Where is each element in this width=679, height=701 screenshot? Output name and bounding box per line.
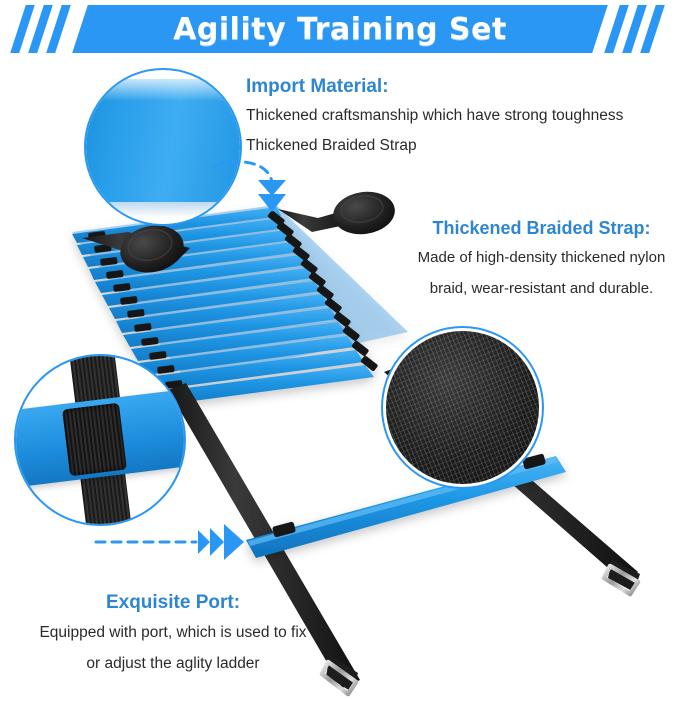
braided-strap-closeup-icon xyxy=(381,326,544,489)
arrow-right-icon xyxy=(92,518,252,564)
callout-line: Thickened craftsmanship which have stron… xyxy=(246,104,623,128)
callout-exquisite-port: Exquisite Port: Equipped with port, whic… xyxy=(8,592,338,676)
callout-import-material: Import Material: Thickened craftsmanship… xyxy=(246,76,623,158)
port-slot xyxy=(63,403,128,477)
infographic-page: Agility Training Set xyxy=(0,0,679,701)
callout-line: Equipped with port, which is used to fix xyxy=(8,621,338,645)
port-closeup-icon xyxy=(14,354,186,526)
callout-line: Thickened Braided Strap xyxy=(246,134,623,158)
callout-line: or adjust the aglity ladder xyxy=(8,652,338,676)
callout-line: Made of high-density thickened nylon xyxy=(404,246,679,270)
arrow-down-icon xyxy=(212,152,298,222)
callout-line: braid, wear-resistant and durable. xyxy=(404,277,679,301)
ladder-rung-lower xyxy=(246,453,566,558)
material-highlight xyxy=(86,79,240,101)
buckle-right[interactable] xyxy=(604,560,640,594)
callout-heading: Import Material: xyxy=(246,76,623,98)
callout-heading: Thickened Braided Strap: xyxy=(404,218,679,239)
callout-thickened-braided-strap: Thickened Braided Strap: Made of high-de… xyxy=(404,218,679,301)
braid-texture xyxy=(386,331,539,484)
callout-heading: Exquisite Port: xyxy=(8,592,338,614)
